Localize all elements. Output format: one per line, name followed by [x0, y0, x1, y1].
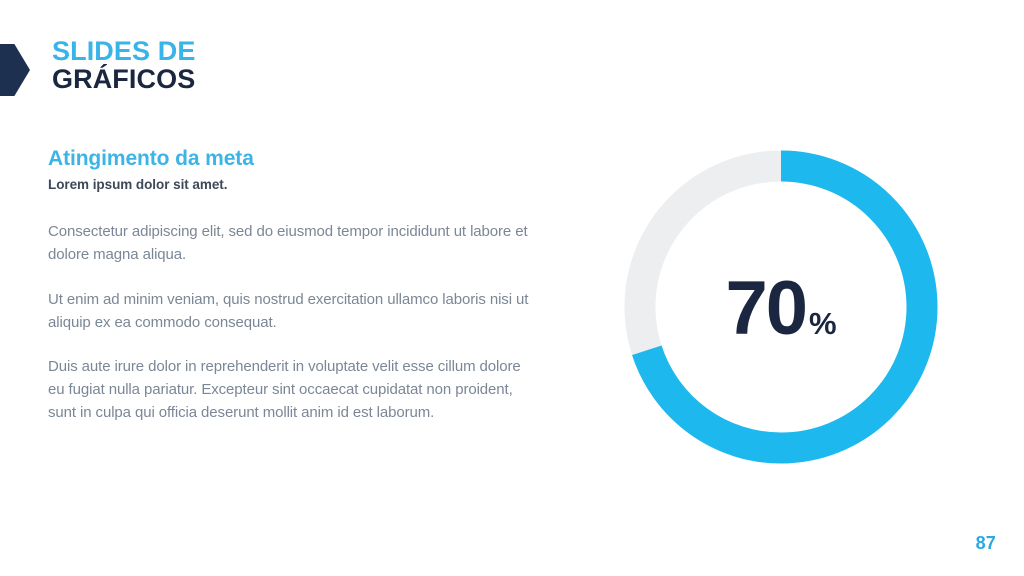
- donut-chart: 70 %: [624, 150, 938, 464]
- donut-center-label: 70 %: [624, 150, 938, 464]
- section-subtitle: Lorem ipsum dolor sit amet.: [48, 177, 548, 192]
- page-title-line-1: SLIDES DE: [52, 38, 195, 66]
- page-title: SLIDES DE GRÁFICOS: [52, 38, 195, 93]
- page-title-line-2: GRÁFICOS: [52, 66, 195, 94]
- body-paragraph-1: Consectetur adipiscing elit, sed do eius…: [48, 221, 538, 267]
- page-number: 87: [976, 533, 996, 554]
- donut-value-number: 70: [725, 271, 806, 347]
- body-paragraph-3: Duis aute irure dolor in reprehenderit i…: [48, 356, 538, 424]
- section-title: Atingimento da meta: [48, 146, 548, 172]
- body-paragraph-2: Ut enim ad minim veniam, quis nostrud ex…: [48, 289, 538, 335]
- donut-value-unit: %: [809, 308, 837, 339]
- chevron-right-banner-icon: [0, 44, 30, 96]
- content-column: Atingimento da meta Lorem ipsum dolor si…: [48, 146, 548, 425]
- slide-canvas: SLIDES DE GRÁFICOS Atingimento da meta L…: [0, 0, 1024, 576]
